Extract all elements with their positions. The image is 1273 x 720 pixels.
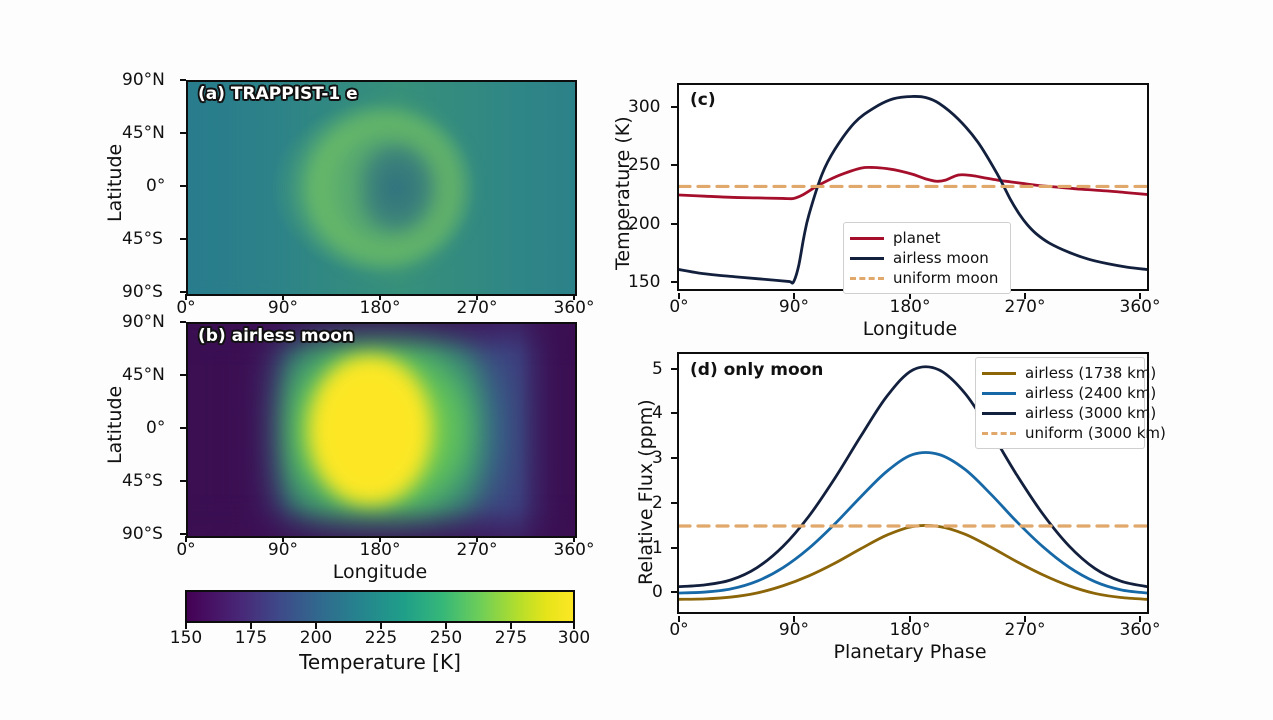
colorbar-tick-0: 150 [170,628,202,648]
panel-a-xtickmark-4 [573,294,575,300]
legend-swatch-airless-3000 [982,412,1016,415]
panel-d-legend-item-uniform-3000[interactable]: uniform (3000 km) [982,423,1136,443]
panel-b-xlabel: Longitude [333,561,428,583]
panel-b-ytickmark-0 [180,321,186,323]
colorbar-tick-4: 250 [430,628,462,648]
legend-swatch-airless-1738 [982,372,1016,375]
panel-b-xtickmark-1 [282,536,284,542]
legend-label-airless-1738: airless (1738 km) [1025,366,1156,381]
panel-c-legend-item-uniform-moon[interactable]: uniform moon [850,268,1002,288]
panel-d-xtick-2: 180° [890,620,931,640]
panel-b-ytick-2: 0° [146,418,165,438]
panel-a-ytickmark-1 [180,132,186,134]
panel-b-tag: (b) airless moon [198,326,354,346]
panel-b-ytickmark-2 [180,427,186,429]
panel-d-ytickmark-4 [671,412,677,414]
panel-a-cool-core [358,146,432,231]
panel-d-ytick-0: 0 [652,582,663,602]
panel-a-ytickmark-4 [180,291,186,293]
panel-b-xtickmark-4 [573,536,575,542]
panel-d-xlabel: Planetary Phase [833,641,986,663]
panel-a-ytickmark-2 [180,185,186,187]
legend-swatch-planet [850,237,884,240]
panel-c-legend-item-planet[interactable]: planet [850,228,1002,248]
panel-b-xtickmark-0 [185,536,187,542]
legend-swatch-airless-moon [850,257,884,260]
legend-label-uniform-3000: uniform (3000 km) [1025,426,1166,441]
panel-a-tag: (a) TRAPPIST-1 e [198,84,358,104]
panel-d-tag: (d) only moon [690,360,823,380]
panel-a-xtick-2: 180° [360,298,401,318]
panel-a-ytickmark-3 [180,238,186,240]
panel-a-ytickmark-0 [180,79,186,81]
panel-a-xtickmark-3 [476,294,478,300]
colorbar-tick-3: 225 [365,628,397,648]
panel-a-heatmap [186,80,577,296]
panel-c-xtick-2: 180° [890,297,931,317]
panel-a-xtick-4: 360° [554,298,595,318]
panel-d-ytickmark-5 [671,368,677,370]
panel-a-ylabel: Latitude [104,144,126,222]
panel-d-ytick-5: 5 [652,359,663,379]
series-line-airless-1738-km- [679,525,1147,599]
panel-b-xtick-2: 180° [360,540,401,560]
panel-c-ytickmark-1 [671,164,677,166]
panel-c-ytick-0: 300 [628,97,660,117]
panel-c-tag: (c) [690,90,716,110]
colorbar-tick-2: 200 [300,628,332,648]
panel-c-xtickmark-0 [678,293,680,299]
panel-b-xtick-4: 360° [554,540,595,560]
panel-d-xtickmark-0 [678,616,680,622]
colorbar-label: Temperature [K] [299,650,461,674]
panel-b-ylabel: Latitude [104,386,126,464]
panel-d-legend-item-airless-2400[interactable]: airless (2400 km) [982,383,1136,403]
legend-swatch-uniform-3000 [982,432,1016,435]
panel-d-xtick-3: 270° [1005,620,1046,640]
colorbar [185,590,575,623]
panel-c-ytick-3: 150 [628,272,660,292]
panel-d-xtick-0: 0° [669,620,688,640]
panel-c-xtick-0: 0° [669,297,688,317]
panel-b-xtick-0: 0° [176,540,195,560]
panel-d-ytickmark-1 [671,547,677,549]
panel-c-xtick-3: 270° [1005,297,1046,317]
panel-d-xtickmark-1 [793,616,795,622]
panel-c-legend: planet airless moon uniform moon [843,222,1011,294]
panel-a-ytick-1: 45°N [122,123,165,143]
panel-d-ytickmark-2 [671,502,677,504]
panel-d-xtickmark-3 [1024,616,1026,622]
panel-b-polar-dark-bottom [186,506,577,538]
panel-a-xtickmark-1 [282,294,284,300]
panel-b-ytickmark-3 [180,480,186,482]
panel-d-legend-item-airless-1738[interactable]: airless (1738 km) [982,363,1136,383]
panel-b-heatmap [186,322,577,538]
panel-c-ytickmark-0 [671,106,677,108]
panel-d-ytickmark-0 [671,591,677,593]
colorbar-tick-1: 175 [235,628,267,648]
panel-a-ytick-2: 0° [146,176,165,196]
panel-b-ytick-4: 90°S [122,524,163,544]
panel-a-xtick-0: 0° [176,298,195,318]
legend-label-uniform-moon: uniform moon [893,271,998,286]
panel-d-xtickmark-2 [909,616,911,622]
legend-label-airless-2400: airless (2400 km) [1025,386,1156,401]
panel-d-legend: airless (1738 km) airless (2400 km) airl… [975,357,1145,449]
panel-c-xtickmark-1 [793,293,795,299]
panel-c-ylabel: Temperature (K) [612,116,634,270]
panel-a-xtick-3: 270° [457,298,498,318]
legend-swatch-uniform-moon [850,277,884,280]
panel-b-ytick-1: 45°N [122,365,165,385]
colorbar-tick-6: 300 [558,628,590,648]
panel-b-xtick-1: 90° [268,540,298,560]
panel-c-xtickmark-4 [1139,293,1141,299]
panel-c-xtick-1: 90° [779,297,809,317]
panel-a-dark-left [186,80,296,296]
panel-b-hotspot [308,354,432,507]
panel-b-ytickmark-4 [180,533,186,535]
colorbar-tick-5: 275 [495,628,527,648]
panel-d-ytickmark-3 [671,457,677,459]
legend-swatch-airless-2400 [982,392,1016,395]
panel-c-legend-item-airless-moon[interactable]: airless moon [850,248,1002,268]
legend-label-airless-3000: airless (3000 km) [1025,406,1156,421]
panel-b-ytick-3: 45°S [122,471,163,491]
panel-d-xtick-1: 90° [779,620,809,640]
panel-c-xtickmark-3 [1024,293,1026,299]
panel-c-ytickmark-3 [671,281,677,283]
panel-d-xtickmark-4 [1139,616,1141,622]
panel-c-ytickmark-2 [671,223,677,225]
panel-b-xtick-3: 270° [457,540,498,560]
panel-b-xtickmark-2 [379,536,381,542]
figure-canvas: (a) TRAPPIST-1 e 90°N 45°N 0° 45°S 90°S … [0,0,1273,720]
panel-a-ytick-0: 90°N [122,70,165,90]
panel-a-ytick-4: 90°S [122,282,163,302]
panel-a-xtickmark-2 [379,294,381,300]
panel-c-xtick-4: 360° [1120,297,1161,317]
panel-b-ytickmark-1 [180,374,186,376]
panel-b-xtickmark-3 [476,536,478,542]
panel-a-xtickmark-0 [185,294,187,300]
legend-label-planet: planet [893,231,941,246]
legend-label-airless-moon: airless moon [893,251,989,266]
panel-c-xlabel: Longitude [863,318,958,340]
panel-d-ylabel: Relative Flux (ppm) [635,399,657,585]
panel-b-ytick-0: 90°N [122,312,165,332]
series-line-planet [679,167,1147,198]
panel-a-xtick-1: 90° [268,298,298,318]
panel-a-ytick-3: 45°S [122,229,163,249]
panel-d-xtick-4: 360° [1120,620,1161,640]
panel-d-legend-item-airless-3000[interactable]: airless (3000 km) [982,403,1136,423]
